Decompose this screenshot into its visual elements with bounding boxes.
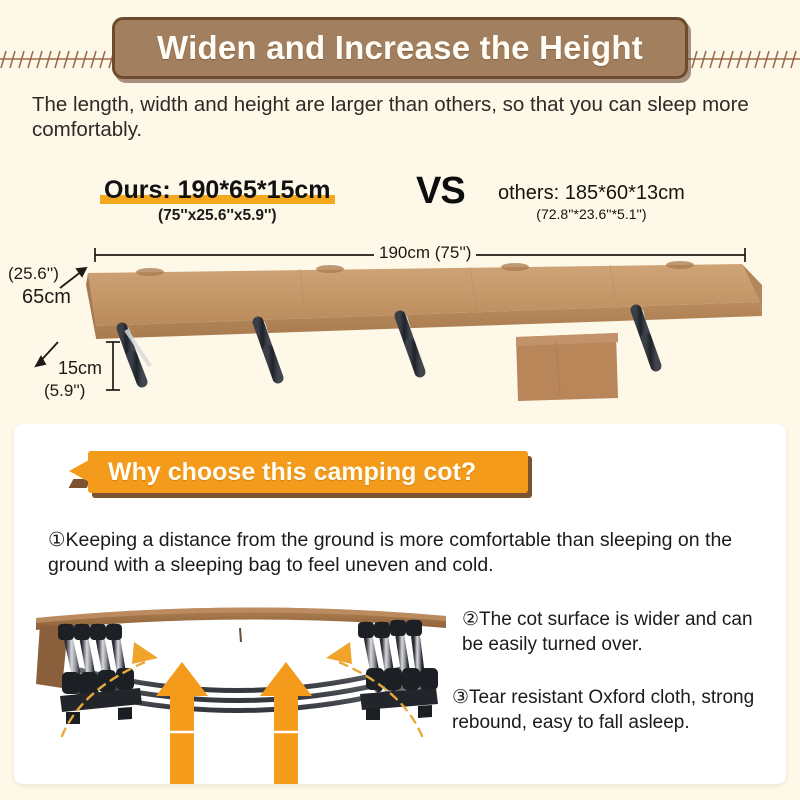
ribbon-label: Why choose this camping cot?	[88, 458, 476, 487]
ribbon-pointer-icon	[69, 460, 89, 482]
infographic-page: Widen and Increase the Height The length…	[0, 0, 800, 800]
ours-spec-block: Ours: 190*65*15cm (75''x25.6''x5.9'')	[100, 176, 335, 225]
width-dimension-label: 65cm	[22, 286, 71, 309]
others-spec-block: others: 185*60*13cm (72.8''*23.6''*5.1''…	[498, 182, 685, 222]
others-spec-label: others: 185*60*13cm	[498, 182, 685, 205]
title-banner: Widen and Increase the Height	[112, 17, 688, 79]
subtitle-text: The length, width and height are larger …	[32, 92, 780, 142]
benefit-item-3: ③Tear resistant Oxford cloth, strong reb…	[452, 686, 782, 735]
others-spec-inches: (72.8''*23.6''*5.1'')	[498, 206, 685, 222]
why-choose-panel: Why choose this camping cot? ①Keeping a …	[14, 424, 786, 784]
page-title: Widen and Increase the Height	[157, 29, 643, 67]
benefit-item-1: ①Keeping a distance from the ground is m…	[48, 528, 748, 578]
ours-spec-label: Ours: 190*65*15cm	[104, 176, 331, 204]
ribbon-banner: Why choose this camping cot?	[88, 451, 528, 493]
ours-spec-inches: (75''x25.6''x5.9'')	[100, 207, 335, 225]
vs-label: VS	[416, 170, 465, 213]
length-dimension-label: 190cm (75'')	[374, 243, 476, 263]
width-inches-label: (25.6'')	[8, 264, 59, 284]
benefit-item-2: ②The cot surface is wider and can be eas…	[462, 608, 778, 657]
hatch-line-right-icon	[672, 46, 800, 72]
height-dimension-label: 15cm	[58, 358, 102, 379]
cot-frame-illustration	[22, 584, 462, 784]
height-inches-label: (5.9'')	[44, 381, 85, 401]
hatch-line-left-icon	[0, 46, 120, 72]
cot-product-illustration	[0, 238, 800, 418]
ours-spec-highlighted: Ours: 190*65*15cm	[100, 176, 335, 205]
